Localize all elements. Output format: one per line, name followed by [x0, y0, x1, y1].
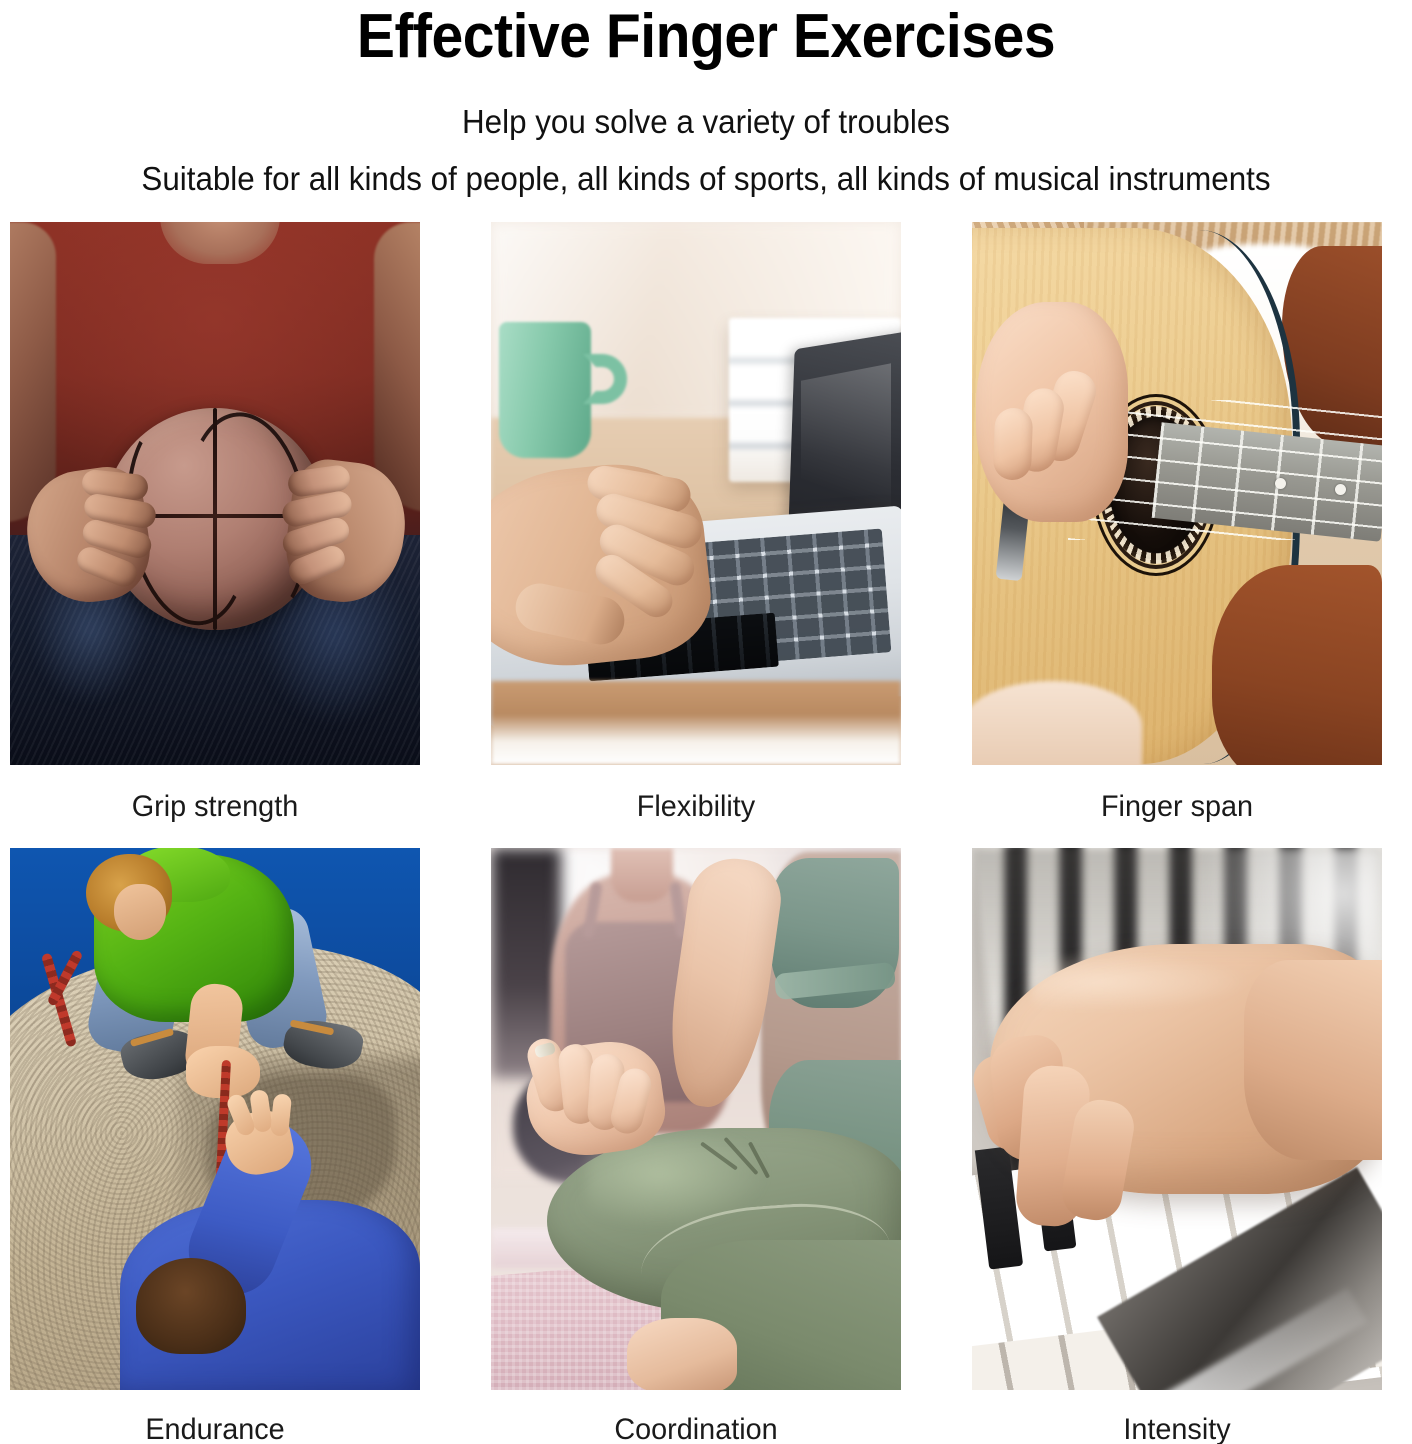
subtitle-line-2: Suitable for all kinds of people, all ki… [35, 159, 1376, 199]
strumming-finger-3 [993, 407, 1033, 480]
piano-photo [972, 848, 1382, 1390]
athlete-right-arm [374, 222, 420, 512]
green-mug [499, 322, 591, 458]
feature-tile-finger-span: Finger span [972, 222, 1382, 848]
hand-highlight [1032, 952, 1252, 1012]
yoga-photo [491, 848, 901, 1390]
caption-finger-span: Finger span [980, 765, 1374, 848]
guitar-lower-bout [1212, 565, 1382, 765]
lower-climber-hair [136, 1258, 246, 1354]
background-person-neck [611, 848, 673, 902]
feature-tile-intensity: Intensity [972, 848, 1382, 1444]
page-title: Effective Finger Exercises [56, 4, 1355, 70]
infographic-page: Effective Finger Exercises Help you solv… [0, 0, 1412, 1444]
feature-tile-flexibility: Flexibility [491, 222, 901, 848]
feature-tile-grip-strength: Grip strength [10, 222, 420, 848]
basketball-photo [10, 222, 420, 765]
caption-grip-strength: Grip strength [18, 765, 412, 848]
desk-foreground [491, 681, 901, 765]
caption-flexibility: Flexibility [499, 765, 893, 848]
feature-tile-endurance: Endurance [10, 848, 420, 1444]
bare-foot [627, 1318, 737, 1390]
climber-face [114, 884, 166, 940]
caption-endurance: Endurance [18, 1390, 412, 1444]
rock-climbing-photo [10, 848, 420, 1390]
athlete-left-arm [10, 222, 56, 522]
feature-tile-coordination: Coordination [491, 848, 901, 1444]
athlete-neck [160, 222, 280, 264]
subtitle-line-1: Help you solve a variety of troubles [35, 102, 1376, 142]
caption-intensity: Intensity [980, 1390, 1374, 1444]
caption-coordination: Coordination [499, 1390, 893, 1444]
laptop-typing-photo [491, 222, 901, 765]
guitar-photo [972, 222, 1382, 765]
header: Effective Finger Exercises Help you solv… [0, 0, 1412, 199]
feature-grid: Grip strength [10, 222, 1402, 1444]
pianist-wrist [1244, 960, 1382, 1160]
basketball-seam-vertical [213, 408, 217, 630]
